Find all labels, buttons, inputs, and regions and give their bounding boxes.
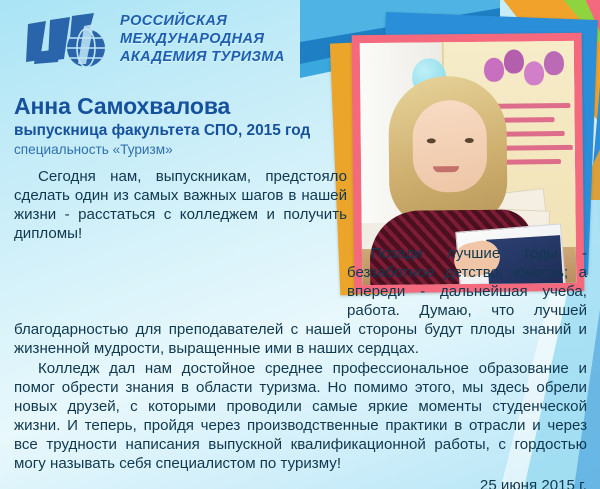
poster-root: РОССИЙСКАЯ МЕЖДУНАРОДНАЯ АКАДЕМИЯ ТУРИЗМ… <box>0 0 600 489</box>
letter-signature-date: 25 июня 2015 г. <box>14 476 587 489</box>
logo-line-1: РОССИЙСКАЯ <box>120 13 285 31</box>
logo-line-2: МЕЖДУНАРОДНАЯ <box>120 31 285 49</box>
graduate-name: Анна Самохвалова <box>14 94 344 119</box>
logo-line-3: АКАДЕМИЯ ТУРИЗМА <box>120 49 285 67</box>
rmat-globe-logo-icon <box>26 12 110 68</box>
paragraph-1: Сегодня нам, выпускникам, предстояло сде… <box>14 167 347 244</box>
paragraph-2: Позади лучшие годы - беззаботное детство… <box>14 244 587 359</box>
letter-body: Сегодня нам, выпускникам, предстояло сде… <box>14 167 587 489</box>
academy-logo-text: РОССИЙСКАЯ МЕЖДУНАРОДНАЯ АКАДЕМИЯ ТУРИЗМ… <box>120 13 285 66</box>
paragraph-3: Колледж дал нам достойное среднее профес… <box>14 359 587 474</box>
academy-logo-block: РОССИЙСКАЯ МЕЖДУНАРОДНАЯ АКАДЕМИЯ ТУРИЗМ… <box>26 12 285 68</box>
graduate-subtitle: выпускница факультета СПО, 2015 год <box>14 121 344 140</box>
graduate-headline: Анна Самохвалова выпускница факультета С… <box>14 94 344 159</box>
graduate-speciality: специальность «Туризм» <box>14 142 344 159</box>
